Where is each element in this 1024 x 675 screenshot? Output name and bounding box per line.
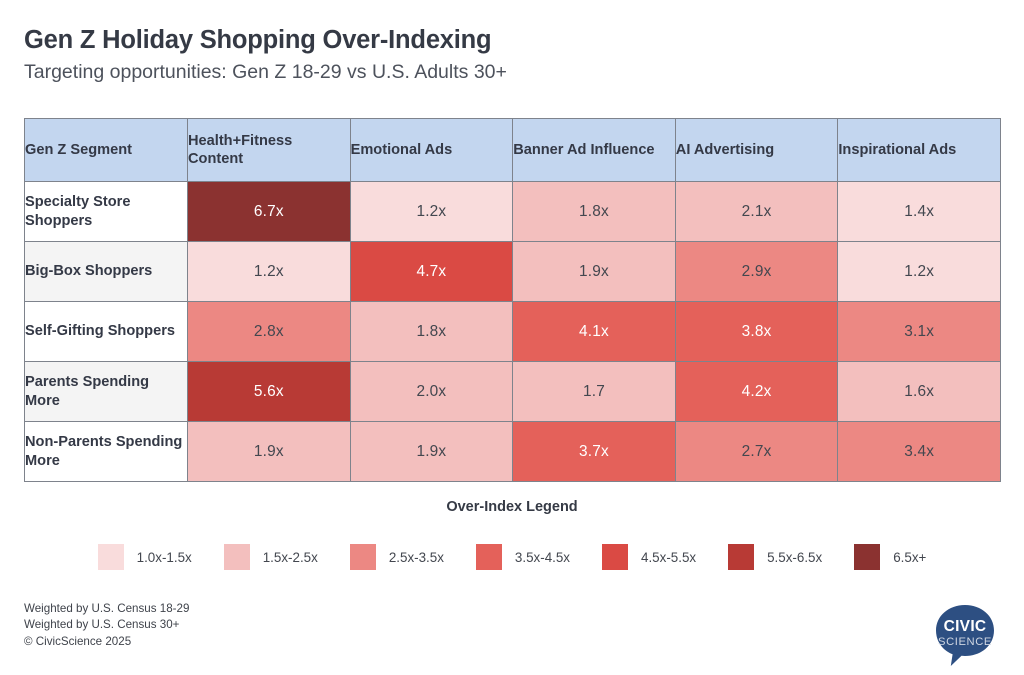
row-label: Specialty Store Shoppers	[25, 182, 188, 242]
heatmap-cell: 1.8x	[350, 302, 513, 362]
heatmap-cell: 3.1x	[838, 302, 1001, 362]
table-row: Parents Spending More5.6x2.0x1.74.2x1.6x	[25, 362, 1001, 422]
heatmap-cell: 1.8x	[513, 182, 676, 242]
heatmap-cell: 2.9x	[675, 242, 838, 302]
footer-notes: Weighted by U.S. Census 18-29Weighted by…	[24, 601, 189, 650]
legend-item: 5.5x-6.5x	[728, 544, 822, 570]
heatmap-cell: 1.7	[513, 362, 676, 422]
logo-primary-text: CIVIC	[944, 618, 987, 635]
row-label: Parents Spending More	[25, 362, 188, 422]
heatmap-cell: 5.6x	[188, 362, 351, 422]
column-header-metric: Inspirational Ads	[838, 119, 1001, 182]
heatmap-cell: 1.9x	[188, 422, 351, 482]
table-row: Non-Parents Spending More1.9x1.9x3.7x2.7…	[25, 422, 1001, 482]
heatmap-cell: 2.1x	[675, 182, 838, 242]
heatmap-cell: 1.9x	[513, 242, 676, 302]
heatmap-cell: 2.8x	[188, 302, 351, 362]
legend-label: 1.5x-2.5x	[263, 550, 318, 565]
table-row: Specialty Store Shoppers6.7x1.2x1.8x2.1x…	[25, 182, 1001, 242]
footer-note: © CivicScience 2025	[24, 634, 189, 650]
legend-swatch	[728, 544, 754, 570]
page-title: Gen Z Holiday Shopping Over-Indexing	[24, 26, 984, 55]
row-label: Self-Gifting Shoppers	[25, 302, 188, 362]
column-header-metric: Banner Ad Influence	[513, 119, 676, 182]
legend-item: 4.5x-5.5x	[602, 544, 696, 570]
legend-label: 1.0x-1.5x	[137, 550, 192, 565]
legend: 1.0x-1.5x1.5x-2.5x2.5x-3.5x3.5x-4.5x4.5x…	[0, 544, 1024, 570]
legend-swatch	[224, 544, 250, 570]
legend-item: 2.5x-3.5x	[350, 544, 444, 570]
table-header-row: Gen Z SegmentHealth+Fitness ContentEmoti…	[25, 119, 1001, 182]
heatmap-cell: 1.9x	[350, 422, 513, 482]
row-label: Big-Box Shoppers	[25, 242, 188, 302]
legend-swatch	[854, 544, 880, 570]
legend-item: 3.5x-4.5x	[476, 544, 570, 570]
footer-note: Weighted by U.S. Census 18-29	[24, 601, 189, 617]
heatmap-cell: 4.7x	[350, 242, 513, 302]
heatmap-cell: 4.1x	[513, 302, 676, 362]
table-row: Self-Gifting Shoppers2.8x1.8x4.1x3.8x3.1…	[25, 302, 1001, 362]
legend-title: Over-Index Legend	[0, 499, 1024, 515]
heatmap-cell: 1.6x	[838, 362, 1001, 422]
legend-label: 3.5x-4.5x	[515, 550, 570, 565]
heatmap-cell: 1.4x	[838, 182, 1001, 242]
heatmap-cell: 1.2x	[838, 242, 1001, 302]
column-header-metric: Emotional Ads	[350, 119, 513, 182]
page-subtitle: Targeting opportunities: Gen Z 18-29 vs …	[24, 61, 984, 83]
legend-label: 2.5x-3.5x	[389, 550, 444, 565]
heatmap-cell: 4.2x	[675, 362, 838, 422]
column-header-metric: AI Advertising	[675, 119, 838, 182]
heatmap-cell: 6.7x	[188, 182, 351, 242]
chart-header: Gen Z Holiday Shopping Over-Indexing Tar…	[24, 26, 984, 83]
heatmap-cell: 1.2x	[350, 182, 513, 242]
row-label: Non-Parents Spending More	[25, 422, 188, 482]
column-header-metric: Health+Fitness Content	[188, 119, 351, 182]
heatmap-cell: 3.4x	[838, 422, 1001, 482]
legend-swatch	[602, 544, 628, 570]
over-index-matrix: Gen Z SegmentHealth+Fitness ContentEmoti…	[24, 118, 1000, 482]
legend-label: 4.5x-5.5x	[641, 550, 696, 565]
legend-item: 1.5x-2.5x	[224, 544, 318, 570]
legend-label: 6.5x+	[893, 550, 926, 565]
table-row: Big-Box Shoppers1.2x4.7x1.9x2.9x1.2x	[25, 242, 1001, 302]
legend-item: 1.0x-1.5x	[98, 544, 192, 570]
heatmap-cell: 2.7x	[675, 422, 838, 482]
civicscience-logo: CIVIC SCIENCE	[930, 600, 1000, 670]
heatmap-cell: 3.7x	[513, 422, 676, 482]
heatmap-cell: 3.8x	[675, 302, 838, 362]
heatmap-table: Gen Z SegmentHealth+Fitness ContentEmoti…	[24, 118, 1001, 482]
legend-item: 6.5x+	[854, 544, 926, 570]
column-header-segment: Gen Z Segment	[25, 119, 188, 182]
heatmap-cell: 1.2x	[188, 242, 351, 302]
table-body: Specialty Store Shoppers6.7x1.2x1.8x2.1x…	[25, 182, 1001, 482]
legend-swatch	[350, 544, 376, 570]
legend-label: 5.5x-6.5x	[767, 550, 822, 565]
footer-note: Weighted by U.S. Census 30+	[24, 617, 189, 633]
logo-secondary-text: SCIENCE	[938, 636, 992, 648]
legend-swatch	[476, 544, 502, 570]
legend-swatch	[98, 544, 124, 570]
heatmap-cell: 2.0x	[350, 362, 513, 422]
